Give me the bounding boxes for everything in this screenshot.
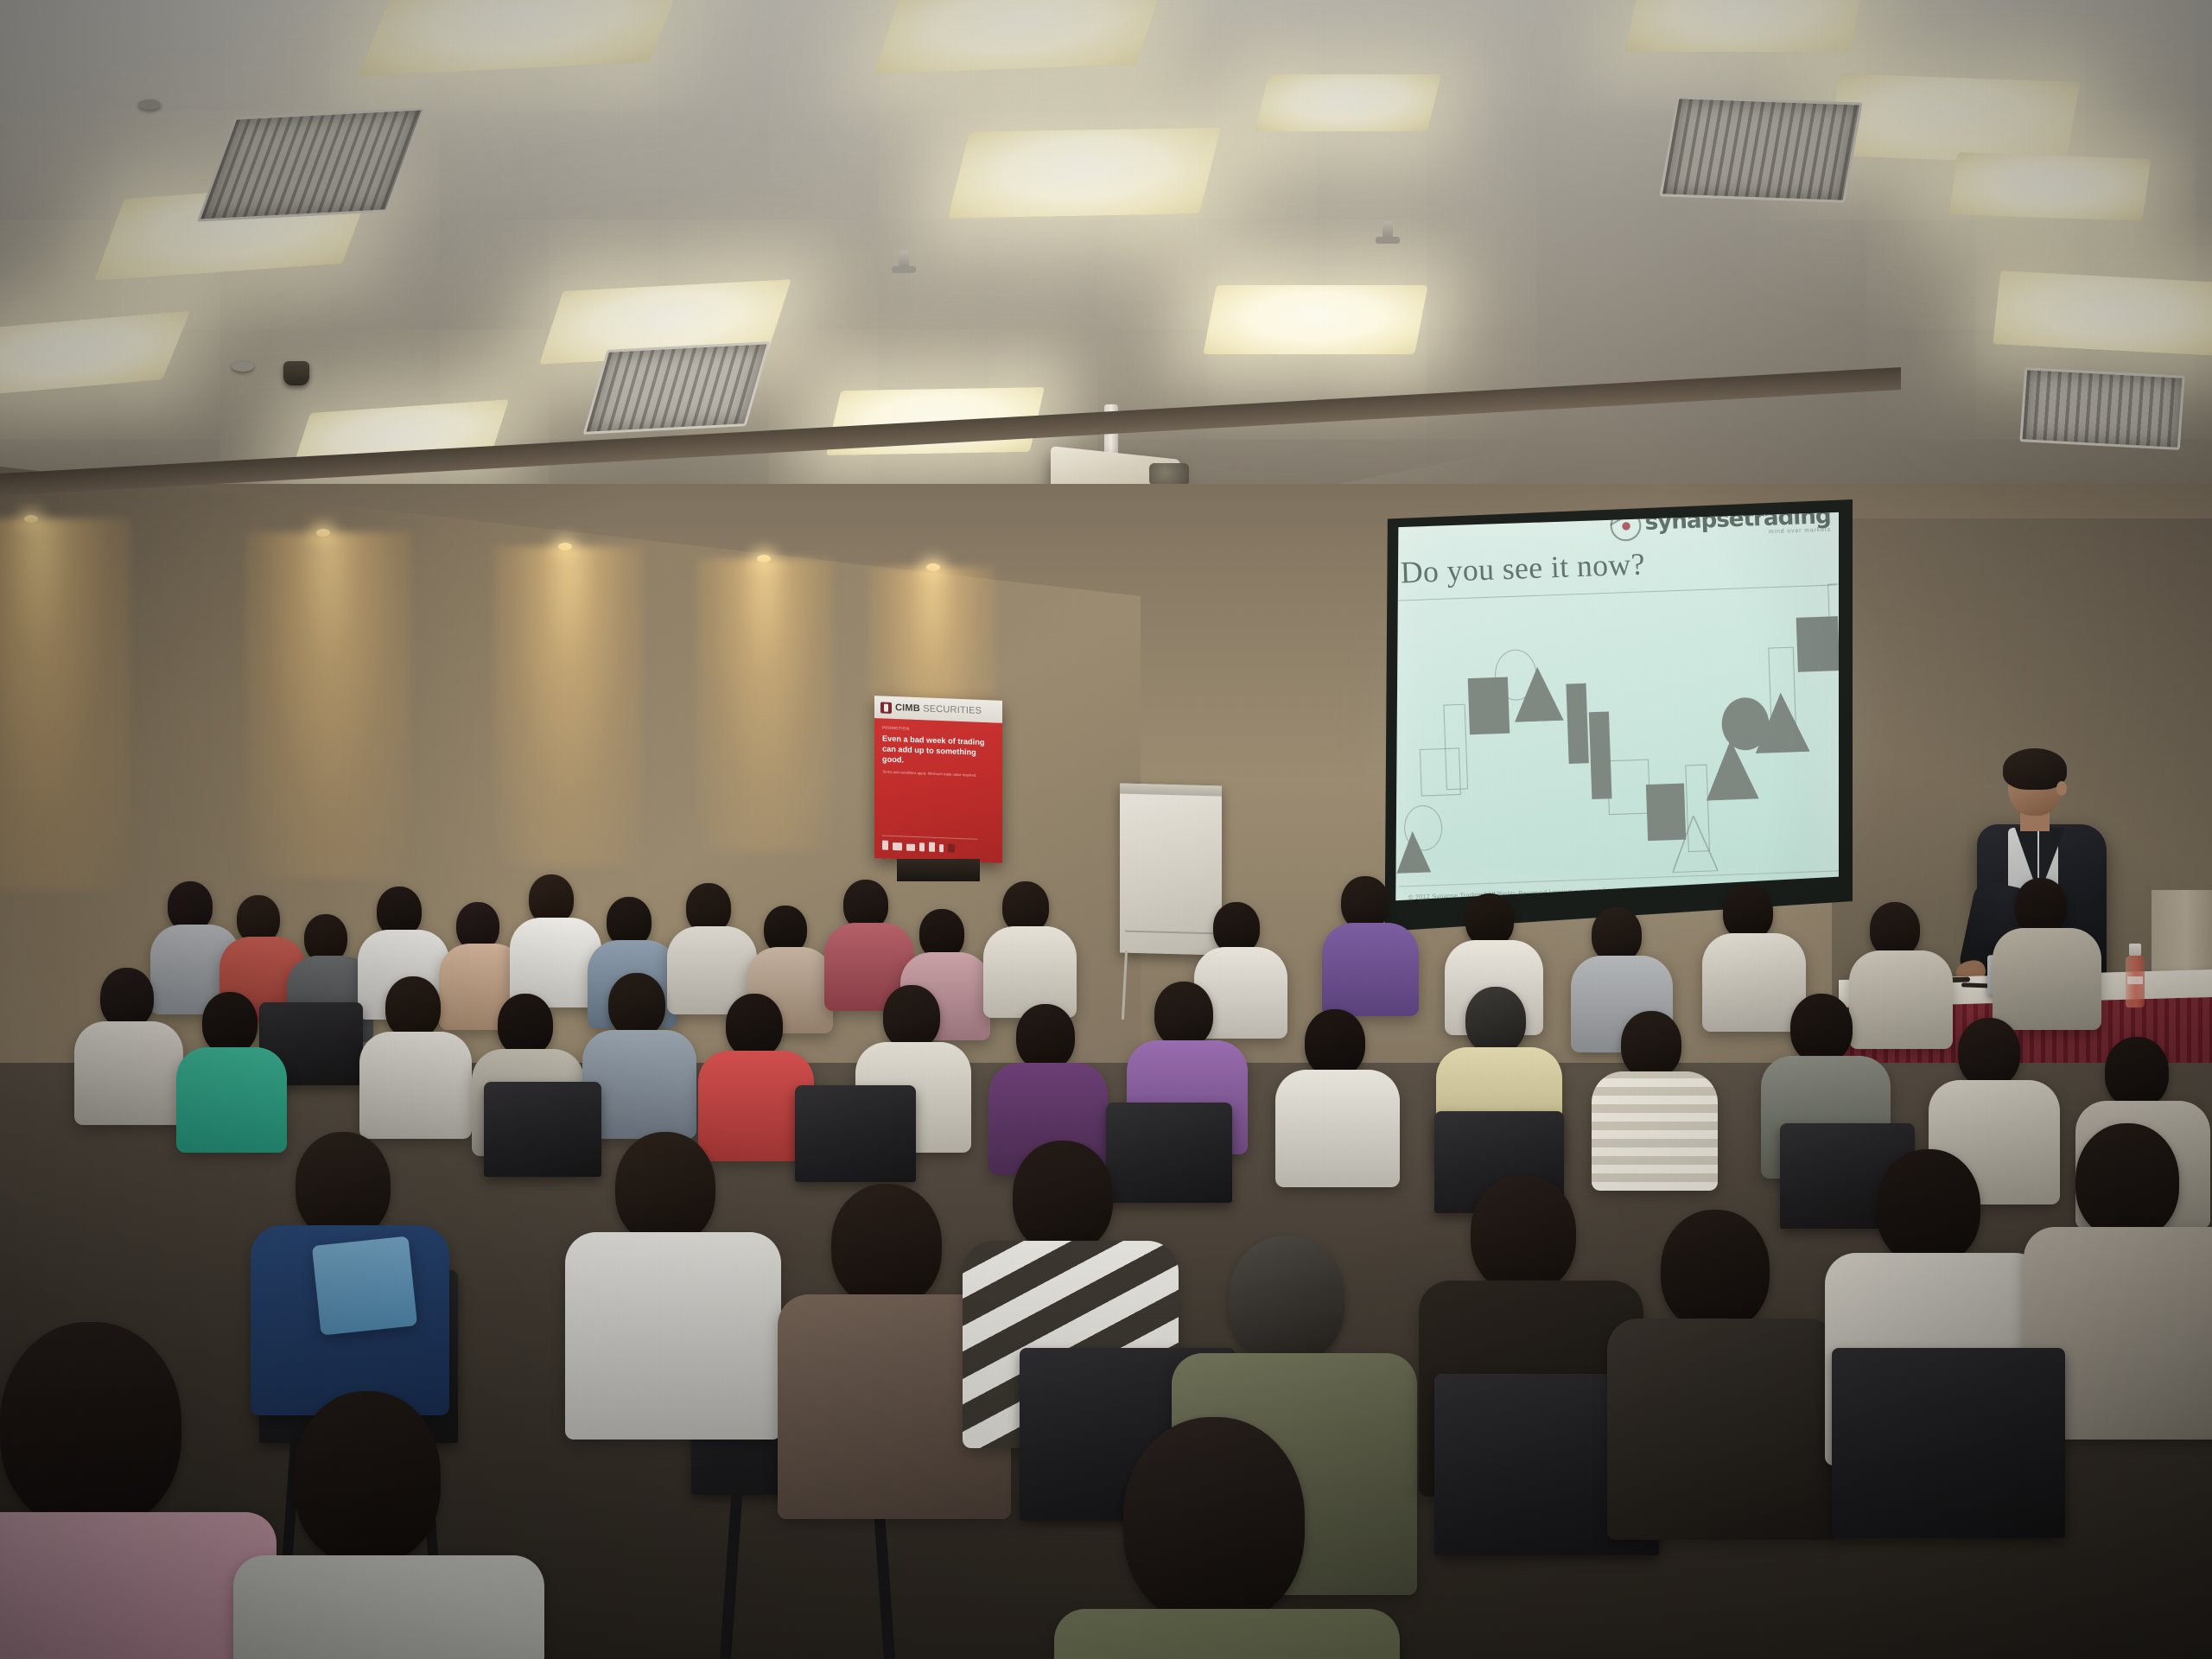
head <box>1870 902 1920 957</box>
head <box>1661 1210 1770 1331</box>
banner-icon-4 <box>919 842 925 851</box>
ceiling-light-panel <box>1825 73 2080 164</box>
ceiling-light-panel <box>1203 285 1428 354</box>
torso <box>74 1021 183 1125</box>
seminar-room-photo: synapsetrading mind over markets Do you … <box>0 0 2212 1659</box>
head <box>1592 907 1642 963</box>
head <box>831 1184 942 1306</box>
security-camera-icon <box>283 361 309 385</box>
torso <box>1702 933 1806 1032</box>
banner-icon-6 <box>939 844 944 852</box>
shape-rect-solid <box>1566 683 1588 764</box>
head <box>2075 1123 2179 1239</box>
head <box>498 994 553 1056</box>
screen-surface: synapsetrading mind over markets Do you … <box>1389 512 1839 902</box>
ceiling-light-panel <box>1993 270 2212 356</box>
downlight-icon <box>24 515 38 523</box>
chair <box>1106 1103 1232 1203</box>
banner-icon-5 <box>929 842 935 852</box>
slide-title: Do you see it now? <box>1400 548 1645 591</box>
banner-headline: Even a bad week of trading can add up to… <box>882 734 995 769</box>
head <box>385 976 441 1039</box>
shape-rect-hollow <box>1443 704 1468 791</box>
torso-panel <box>312 1236 417 1335</box>
projector-lens-icon <box>1149 463 1189 486</box>
head <box>726 994 783 1058</box>
cimb-securities-banner: CIMB SECURITIES PROMOTION Even a bad wee… <box>874 696 1002 863</box>
head <box>1154 982 1213 1047</box>
head <box>1123 1417 1305 1624</box>
head <box>296 1132 391 1239</box>
banner-brand: CIMB SECURITIES <box>895 702 982 716</box>
head <box>1621 1011 1681 1078</box>
torso <box>359 1032 472 1139</box>
torso <box>1607 1319 1839 1540</box>
head <box>883 985 940 1049</box>
head <box>1229 1236 1344 1363</box>
air-vent <box>583 341 771 435</box>
ceiling-light-panel <box>948 127 1221 218</box>
ceiling-light-panel <box>1948 152 2151 221</box>
chair-leg <box>720 1486 743 1659</box>
head <box>1002 881 1049 933</box>
torso <box>1054 1609 1400 1659</box>
head <box>1013 1141 1113 1253</box>
sprinkler-icon <box>1382 221 1393 244</box>
head <box>1341 876 1389 930</box>
torso <box>1592 1071 1718 1191</box>
downlight-icon <box>757 555 771 563</box>
head <box>1016 1004 1075 1070</box>
smoke-detector-icon <box>138 99 161 110</box>
shape-rect-hollow <box>1607 760 1651 816</box>
banner-icon-1 <box>882 841 888 850</box>
downlight-icon <box>926 563 940 571</box>
torso <box>1275 1070 1400 1187</box>
head <box>1723 885 1773 940</box>
chair <box>1832 1348 2065 1538</box>
presenter-ear <box>2056 781 2067 796</box>
head <box>2105 1037 2169 1108</box>
air-vent <box>1659 96 1862 203</box>
head <box>1305 1009 1365 1077</box>
ceiling-light-panel <box>1624 0 1866 52</box>
slide: synapsetrading mind over markets Do you … <box>1389 512 1839 902</box>
banner-eyebrow: PROMOTION <box>882 726 995 734</box>
head <box>202 992 257 1054</box>
banner-divider <box>882 836 977 840</box>
torso <box>1849 950 1953 1049</box>
banner-icon-7 <box>948 843 955 852</box>
ceiling-light-panel <box>874 0 1165 73</box>
air-vent <box>2019 367 2184 450</box>
shape-circle-hollow <box>1403 804 1443 851</box>
downlight-icon <box>558 543 572 550</box>
ceiling-light-panel <box>1255 74 1441 131</box>
head <box>1213 902 1260 954</box>
banner-subline: Terms and conditions apply. Minimum trad… <box>882 770 995 779</box>
banner-brand-primary: CIMB <box>895 702 920 714</box>
shape-triangle-solid <box>1513 666 1564 722</box>
head <box>2015 878 2067 935</box>
audience <box>0 864 2212 1659</box>
head <box>1790 994 1853 1063</box>
slide-shape-figure <box>1389 588 1839 895</box>
banner-icon-2 <box>893 842 902 850</box>
banner-icon-3 <box>906 844 915 851</box>
head <box>294 1391 441 1564</box>
head <box>1465 987 1526 1054</box>
chair <box>795 1085 916 1182</box>
head <box>615 1132 715 1244</box>
torso <box>233 1555 544 1659</box>
cimb-logo-icon <box>880 702 892 713</box>
head <box>100 968 154 1028</box>
banner-brand-secondary: SECURITIES <box>923 703 982 716</box>
head <box>1465 893 1514 947</box>
head <box>608 973 665 1037</box>
head <box>1958 1018 2020 1087</box>
smoke-detector-icon <box>232 361 254 372</box>
sprinkler-icon <box>899 251 909 273</box>
head <box>1877 1149 1980 1265</box>
torso <box>1322 923 1419 1016</box>
banner-body: PROMOTION Even a bad week of trading can… <box>874 718 1002 863</box>
torso <box>983 926 1077 1018</box>
banner-payment-icons <box>882 841 955 853</box>
chair <box>484 1082 601 1177</box>
downlight-icon <box>316 529 330 537</box>
torso <box>565 1232 781 1440</box>
shape-rect-hollow <box>1768 647 1796 739</box>
torso <box>176 1047 287 1153</box>
torso <box>1993 928 2101 1030</box>
head <box>0 1322 181 1529</box>
head <box>1471 1175 1576 1293</box>
